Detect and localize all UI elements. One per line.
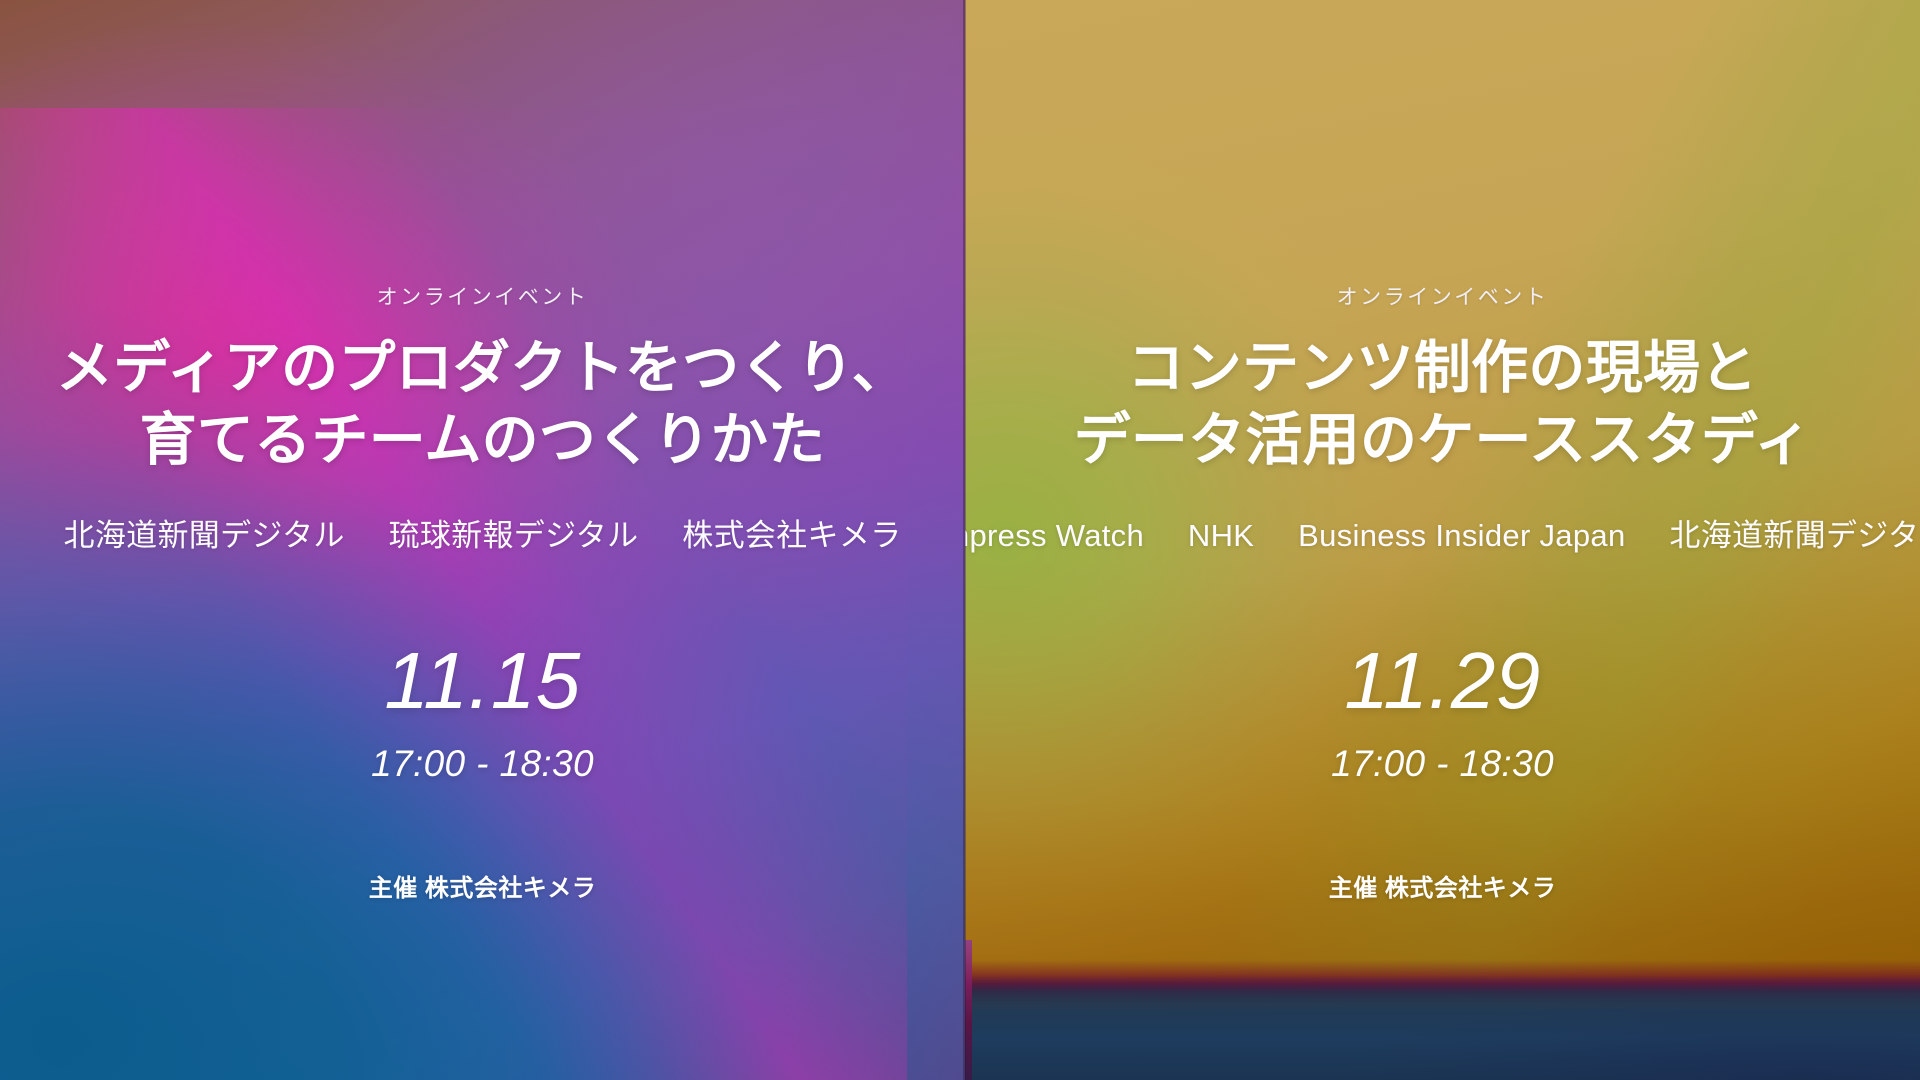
right-headline-line-2: データ活用のケーススタディ: [1074, 405, 1812, 477]
left-organizations: 北海道新聞デジタル 琉球新報デジタル 株式会社キメラ: [64, 510, 902, 555]
right-org-3: Business Insider Japan: [1298, 518, 1625, 553]
left-event-date: 11.15: [384, 641, 580, 721]
event-card-left[interactable]: オンラインイベント メディアのプロダクトをつくり、 育てるチームのつくりかた 北…: [0, 0, 965, 1080]
right-host-credit: 主催 株式会社キメラ: [1329, 868, 1556, 903]
right-org-1: Impress Watch: [965, 518, 1144, 553]
right-organizations: Impress Watch NHK Business Insider Japan…: [965, 510, 1920, 555]
right-org-2: NHK: [1188, 518, 1254, 553]
right-headline-line-1: コンテンツ制作の現場と: [1074, 333, 1812, 405]
panel-divider: [963, 0, 966, 1080]
left-org-2: 琉球新報デジタル: [389, 518, 639, 553]
left-card-content: オンラインイベント メディアのプロダクトをつくり、 育てるチームのつくりかた 北…: [0, 0, 965, 1080]
left-org-1: 北海道新聞デジタル: [64, 518, 345, 553]
right-card-content: オンラインイベント コンテンツ制作の現場と データ活用のケーススタディ Impr…: [965, 0, 1920, 1080]
right-event-time: 17:00 - 18:30: [1331, 745, 1554, 782]
right-headline: コンテンツ制作の現場と データ活用のケーススタディ: [1074, 333, 1812, 477]
left-host-credit: 主催 株式会社キメラ: [369, 868, 596, 903]
left-headline-line-1: メディアのプロダクトをつくり、: [56, 333, 909, 405]
event-card-right[interactable]: オンラインイベント コンテンツ制作の現場と データ活用のケーススタディ Impr…: [965, 0, 1920, 1080]
event-banner-pair: オンラインイベント メディアのプロダクトをつくり、 育てるチームのつくりかた 北…: [0, 0, 1920, 1080]
left-headline-line-2: 育てるチームのつくりかた: [56, 405, 909, 477]
right-eyebrow-label: オンラインイベント: [1337, 281, 1549, 311]
right-org-4: 北海道新聞デジタル: [1669, 518, 1920, 553]
left-org-3: 株式会社キメラ: [682, 518, 901, 553]
left-eyebrow-label: オンラインイベント: [377, 281, 589, 311]
left-event-time: 17:00 - 18:30: [371, 745, 594, 782]
left-headline: メディアのプロダクトをつくり、 育てるチームのつくりかた: [56, 333, 909, 477]
right-event-date: 11.29: [1344, 641, 1540, 721]
